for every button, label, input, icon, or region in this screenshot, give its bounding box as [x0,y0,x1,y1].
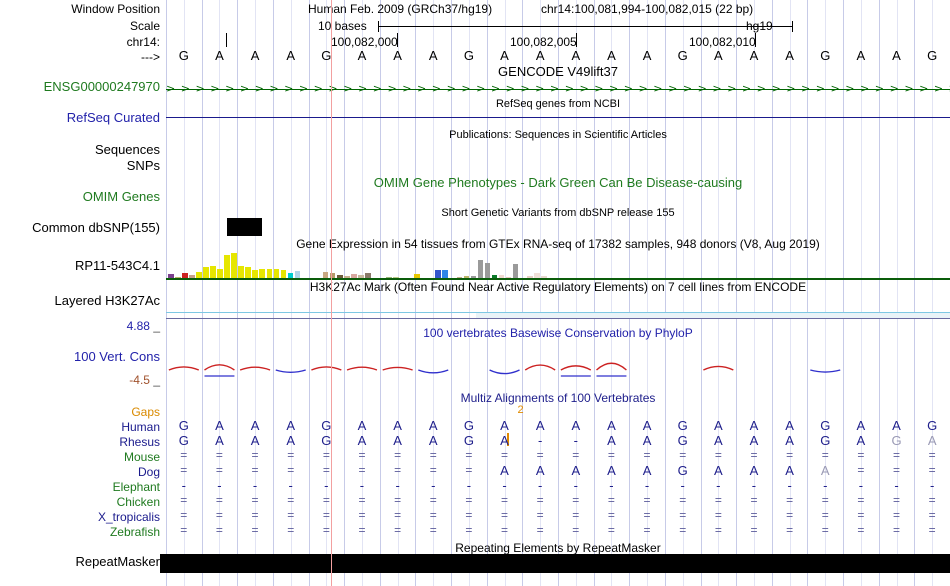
multiz-cell: = [166,523,202,538]
multiz-cell: = [202,508,238,523]
multiz-cell: A [273,433,309,448]
multiz-cell: = [166,463,202,478]
multiz-cell: = [879,493,915,508]
phylop-conserved-arc [596,363,626,370]
multiz-cell: = [273,463,309,478]
base-sequence-row: GAAAGAAAGAAAAAGAAAGAAG [166,48,950,66]
multiz-cell: G [309,418,345,433]
multiz-cell: = [879,448,915,463]
multiz-cell: - [843,478,879,493]
multiz-row-mouse[interactable]: ====================== [166,448,950,463]
sidebar-item-common-dbsnp[interactable]: Common dbSNP(155) [0,221,160,234]
repeatmasker-title: Repeating Elements by RepeatMasker [166,541,950,555]
phylop-conserved-arc [204,365,234,370]
multiz-cell: - [629,478,665,493]
assembly-text: Human Feb. 2009 (GRCh37/hg19) [308,2,492,16]
multiz-cell: G [451,418,487,433]
phylop-axis-max: 4.88 _ [0,320,160,333]
sidebar-item-snps[interactable]: SNPs [0,159,160,172]
base-letter: G [665,48,701,63]
multiz-cell: - [415,478,451,493]
multiz-cell: - [344,478,380,493]
track-pane: Human Feb. 2009 (GRCh37/hg19) chr14:100,… [166,0,950,586]
multiz-cell: = [879,463,915,478]
ruler-label-1: 100,082,000 [331,35,398,49]
sidebar-item-zebrafish[interactable]: Zebrafish [0,526,160,539]
multiz-cell: = [629,493,665,508]
multiz-cell: = [166,493,202,508]
multiz-cell: = [202,463,238,478]
base-letter: G [807,48,843,63]
multiz-gap-count: 2 [503,404,539,416]
repeatmasker-block[interactable] [166,554,950,573]
multiz-cell: A [237,433,273,448]
dbsnp-title: Short Genetic Variants from dbSNP releas… [166,207,950,219]
multiz-cell: A [772,463,808,478]
multiz-cell: = [558,493,594,508]
multiz-cell: = [629,523,665,538]
multiz-cell: G [665,463,701,478]
multiz-cell: = [415,523,451,538]
multiz-cell: = [629,508,665,523]
multiz-cell: = [415,448,451,463]
base-letter: A [629,48,665,63]
multiz-title: Multiz Alignments of 100 Vertebrates [166,391,950,405]
multiz-cell: A [487,463,523,478]
multiz-cell: = [166,448,202,463]
base-letter: A [879,48,915,63]
phylop-conserved-arc [383,367,413,370]
strand-label: ---> [0,51,160,64]
multiz-cell: = [772,508,808,523]
base-letter: A [522,48,558,63]
multiz-cell: A [701,418,737,433]
base-letter: A [380,48,416,63]
multiz-cell: A [594,463,630,478]
multiz-cell: G [807,418,843,433]
multiz-cell: = [772,493,808,508]
multiz-cell: - [202,478,238,493]
multiz-cell: - [451,478,487,493]
dbsnp-variant-box[interactable] [227,218,262,236]
multiz-cell: A [344,433,380,448]
multiz-cell: - [558,433,594,448]
base-letter: G [451,48,487,63]
multiz-cell: A [843,418,879,433]
base-letter: A [736,48,772,63]
multiz-cell: = [487,493,523,508]
multiz-cell: = [843,493,879,508]
multiz-cell: = [772,523,808,538]
sidebar-item-mouse[interactable]: Mouse [0,451,160,464]
multiz-row-zebrafish[interactable]: ====================== [166,523,950,538]
multiz-cell: = [273,523,309,538]
phylop-conserved-arc [347,367,377,370]
multiz-cell: = [487,448,523,463]
multiz-cell: = [629,448,665,463]
multiz-cell: A [843,433,879,448]
multiz-cell: = [558,508,594,523]
multiz-cell: = [736,523,772,538]
multiz-cell: = [807,523,843,538]
multiz-cell: - [166,478,202,493]
sidebar-item-dog[interactable]: Dog [0,466,160,479]
multiz-cell: = [451,523,487,538]
phylop-top-line [166,312,950,313]
base-letter: A [701,48,737,63]
db-text: hg19 [746,19,773,33]
multiz-cell: = [914,508,950,523]
multiz-cell: A [487,418,523,433]
multiz-cell: = [772,448,808,463]
multiz-cell: G [166,418,202,433]
multiz-cell: = [914,493,950,508]
multiz-cell: = [344,463,380,478]
multiz-cell: = [344,448,380,463]
multiz-cell: = [594,508,630,523]
multiz-cell: - [487,478,523,493]
multiz-cell: A [772,418,808,433]
multiz-cell: A [701,463,737,478]
base-letter: A [558,48,594,63]
multiz-cell: - [237,478,273,493]
phylop-conserved-arc [311,367,341,370]
multiz-cell: A [522,418,558,433]
multiz-cell: = [451,508,487,523]
genome-browser: Window Position Scale chr14: ---> ENSG00… [0,0,950,586]
multiz-cell: - [558,478,594,493]
gtex-bar [224,255,230,280]
base-letter: G [309,48,345,63]
multiz-cell: G [665,433,701,448]
sidebar-item-gtex[interactable]: RP11-543C4.1 [0,259,160,272]
scale-bar [378,19,793,34]
multiz-cell: = [914,448,950,463]
base-letter: A [344,48,380,63]
multiz-cell: = [451,448,487,463]
multiz-cell: - [736,478,772,493]
phylop-axis-min: -4.5 _ [0,374,160,387]
multiz-cell: = [202,493,238,508]
phylop-accelerated-arc [490,370,520,374]
multiz-alignment-rows: GAAAGAAAGAAAAAGAAAGAAGGAAAGAAAGA--AAGAAA… [166,418,950,540]
omim-title: OMIM Gene Phenotypes - Dark Green Can Be… [166,175,950,190]
multiz-cell: = [380,493,416,508]
multiz-cell: = [237,508,273,523]
gencode-strand-arrows: >>>>>>>>>>>>>>>>>>>>>>>>>>>>>>>>>>>>>>>>… [166,83,950,94]
multiz-cell: = [701,523,737,538]
scale-label: Scale [0,20,160,33]
multiz-cell: = [807,493,843,508]
ruler-label-2: 100,082,005 [510,35,577,49]
multiz-cell: A [701,433,737,448]
multiz-cell: = [914,523,950,538]
multiz-cell: A [914,433,950,448]
repeatmasker-left-block [160,554,168,573]
multiz-cell: - [380,478,416,493]
multiz-cell: = [914,463,950,478]
multiz-cell: - [309,478,345,493]
multiz-cell: = [701,448,737,463]
multiz-cell: A [736,433,772,448]
base-letter: A [202,48,238,63]
multiz-cell: = [843,508,879,523]
multiz-cell: = [807,508,843,523]
sidebar-item-elephant[interactable]: Elephant [0,481,160,494]
multiz-cell: = [309,493,345,508]
multiz-cell: = [522,493,558,508]
multiz-cell: = [451,463,487,478]
multiz-cell: = [879,508,915,523]
multiz-cell: A [629,433,665,448]
center-guideline [331,0,332,586]
sidebar-item-x-tropicalis[interactable]: X_tropicalis [0,511,160,524]
multiz-cell: = [843,523,879,538]
multiz-cell: = [558,448,594,463]
sidebar-item-chicken[interactable]: Chicken [0,496,160,509]
position-text: chr14:100,081,994-100,082,015 (22 bp) [541,2,753,16]
base-letter: A [843,48,879,63]
refseq-line [166,117,950,118]
multiz-cell: A [807,463,843,478]
multiz-cell: - [879,478,915,493]
multiz-cell: = [665,508,701,523]
multiz-cell: = [558,523,594,538]
sidebar-item-phylop[interactable]: 100 Vert. Cons [0,350,160,363]
multiz-cell: = [309,508,345,523]
multiz-cell: = [736,448,772,463]
multiz-cell: A [202,418,238,433]
multiz-cell: = [237,448,273,463]
sidebar-item-gencode[interactable]: ENSG00000247970 [0,80,160,93]
multiz-cell: - [522,478,558,493]
multiz-cell: - [807,478,843,493]
multiz-cell: A [558,463,594,478]
window-position-label: Window Position [0,3,160,16]
multiz-cell: - [522,433,558,448]
multiz-cell: A [487,433,523,448]
multiz-cell: G [166,433,202,448]
phylop-conserved-arc [561,366,591,370]
multiz-cell: A [558,418,594,433]
multiz-cell: - [273,478,309,493]
multiz-cell: - [594,478,630,493]
multiz-cell: = [415,493,451,508]
multiz-cell: A [380,433,416,448]
multiz-cell: = [309,523,345,538]
base-letter: A [273,48,309,63]
multiz-cell: G [807,433,843,448]
multiz-cell: = [202,523,238,538]
multiz-cell: = [380,448,416,463]
multiz-cell: - [701,478,737,493]
multiz-cell: = [701,493,737,508]
multiz-cell: = [487,508,523,523]
multiz-cell: G [879,433,915,448]
multiz-cell: = [522,448,558,463]
multiz-cell: A [415,433,451,448]
multiz-cell: = [309,448,345,463]
sidebar-item-repeatmasker[interactable]: RepeatMasker [0,555,160,568]
multiz-cell: A [273,418,309,433]
multiz-cell: = [415,508,451,523]
multiz-cell: = [522,508,558,523]
multiz-cell: = [594,448,630,463]
multiz-cell: A [415,418,451,433]
multiz-cell: = [594,523,630,538]
multiz-cell: G [451,433,487,448]
scale-text: 10 bases [318,19,367,33]
base-letter: G [914,48,950,63]
phylop-accelerated-arc [418,370,448,373]
phylop-accelerated-arc [810,370,840,372]
multiz-cell: G [309,433,345,448]
phylop-conserved-arc [703,366,733,370]
multiz-cell: A [522,463,558,478]
multiz-cell: A [202,433,238,448]
multiz-gap-row: 2 [166,404,950,418]
multiz-cell: A [772,433,808,448]
sidebar-item-rhesus[interactable]: Rhesus [0,436,160,449]
multiz-cell: = [380,508,416,523]
multiz-cell: = [451,493,487,508]
multiz-cell: = [736,493,772,508]
multiz-cell: - [914,478,950,493]
base-letter: A [487,48,523,63]
multiz-cell: = [166,508,202,523]
h3k27ac-title: H3K27Ac Mark (Often Found Near Active Re… [166,280,950,294]
multiz-cell: = [415,463,451,478]
base-letter: G [166,48,202,63]
sidebar-item-refseq[interactable]: RefSeq Curated [0,111,160,124]
sidebar-item-omim-genes[interactable]: OMIM Genes [0,190,160,203]
gtex-bar [231,253,237,280]
multiz-cell: = [522,523,558,538]
multiz-cell: = [237,523,273,538]
sidebar-item-human[interactable]: Human [0,421,160,434]
multiz-cell: = [807,448,843,463]
sidebar-item-sequences[interactable]: Sequences [0,143,160,156]
gtex-bar-chart[interactable] [168,252,548,280]
multiz-cell: = [665,448,701,463]
gencode-title: GENCODE V49lift37 [166,64,950,79]
multiz-row-chicken[interactable]: ====================== [166,493,950,508]
multiz-cell: = [273,448,309,463]
phylop-conservation-plot [166,350,950,390]
multiz-cell: A [736,463,772,478]
multiz-cell: A [629,463,665,478]
multiz-cell: - [665,478,701,493]
multiz-cell: = [237,493,273,508]
multiz-cell: = [701,508,737,523]
multiz-row-human[interactable]: GAAAGAAAGAAAAAGAAAGAAG [166,418,950,433]
phylop-conserved-arc [169,367,199,370]
base-letter: A [237,48,273,63]
phylop-conserved-arc [525,365,555,370]
multiz-cell: A [594,433,630,448]
multiz-cell: A [629,418,665,433]
multiz-cell: = [344,523,380,538]
multiz-cell: = [843,448,879,463]
multiz-cell: = [380,463,416,478]
multiz-cell: A [380,418,416,433]
multiz-row-dog[interactable]: =========AAAAAGAAAA=== [166,463,950,478]
chrom-label: chr14: [0,36,160,49]
phylop-conserved-arc [240,367,270,370]
gtex-title: Gene Expression in 54 tissues from GTEx … [166,237,950,251]
base-letter: A [415,48,451,63]
multiz-cell: A [237,418,273,433]
multiz-cell: = [273,493,309,508]
multiz-cell: = [344,508,380,523]
multiz-cell: = [736,508,772,523]
multiz-cell: = [309,463,345,478]
multiz-row-rhesus[interactable]: GAAAGAAAGA--AAGAAAGAGA [166,433,950,448]
sidebar-item-layered-h3k27ac[interactable]: Layered H3K27Ac [0,294,160,307]
phylop-axis-line [166,318,950,319]
multiz-cell: G [914,418,950,433]
multiz-cell: G [665,418,701,433]
publications-title: Publications: Sequences in Scientific Ar… [166,129,950,141]
base-letter: A [772,48,808,63]
multiz-cell: = [665,493,701,508]
multiz-cell: = [879,523,915,538]
ruler-label-3: 100,082,010 [689,35,756,49]
phylop-title: 100 vertebrates Basewise Conservation by… [166,326,950,340]
multiz-cell: = [487,523,523,538]
phylop-accelerated-arc [276,370,306,372]
sidebar-item-gaps[interactable]: Gaps [0,406,160,419]
base-letter: A [594,48,630,63]
multiz-cell: = [665,523,701,538]
multiz-cell: = [237,463,273,478]
multiz-cell: = [273,508,309,523]
multiz-cell: A [344,418,380,433]
multiz-cell: = [380,523,416,538]
refseq-title: RefSeq genes from NCBI [166,98,950,110]
multiz-cell: A [879,418,915,433]
multiz-cell: A [736,418,772,433]
multiz-cell: - [772,478,808,493]
multiz-cell: A [594,418,630,433]
multiz-row-x_tropicalis[interactable]: ====================== [166,508,950,523]
multiz-row-elephant[interactable]: ---------------------- [166,478,950,493]
multiz-cell: = [202,448,238,463]
multiz-cell: = [843,463,879,478]
multiz-cell: = [594,493,630,508]
multiz-cell: = [344,493,380,508]
